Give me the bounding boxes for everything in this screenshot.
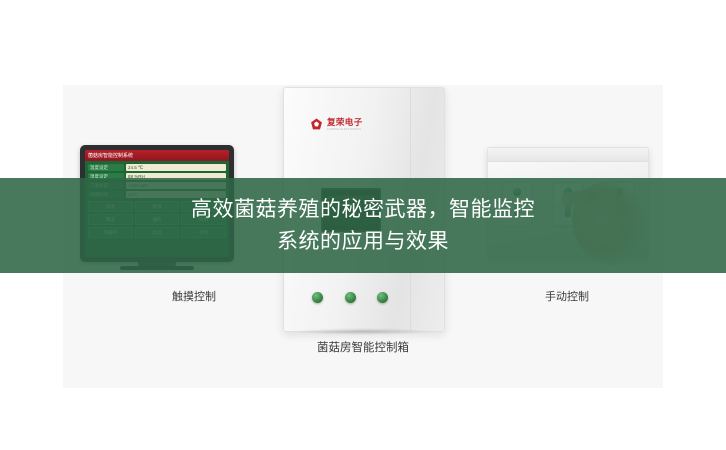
brand-name-cn: 复荣电子 (327, 118, 363, 127)
control-knob[interactable] (377, 292, 388, 303)
reading-value: 24.5 ℃ (126, 164, 226, 171)
headline-text: 高效菌菇养殖的秘密武器，智能监控 系统的应用与效果 (83, 194, 643, 258)
brand-logo: 复荣电子 FURONG ELECTRONICS (310, 118, 363, 131)
brand-name-en: FURONG ELECTRONICS (327, 129, 363, 132)
headline-line-2: 系统的应用与效果 (83, 226, 643, 258)
caption-manual-control: 手动控制 (487, 290, 647, 304)
reading-label: 温度设定 (88, 164, 124, 171)
control-box-knob-row (312, 292, 388, 303)
brand-text: 复荣电子 FURONG ELECTRONICS (327, 118, 363, 131)
touch-screen-titlebar: 菌菇房智能控制系统 (85, 150, 229, 161)
reading-row: 温度设定 24.5 ℃ (88, 164, 226, 171)
control-box-shadow (293, 328, 433, 335)
caption-control-box: 菌菇房智能控制箱 (283, 341, 443, 355)
manual-panel-top-strip (488, 148, 648, 162)
control-knob[interactable] (345, 292, 356, 303)
screenshot-root: 菌菇房智能控制系统 温度设定 24.5 ℃ 湿度设定 88 %RH 二氧化碳 (0, 0, 726, 450)
headline-banner: 高效菌菇养殖的秘密武器，智能监控 系统的应用与效果 (0, 178, 726, 273)
caption-touch-control: 触摸控制 (119, 290, 269, 304)
touch-screen-title: 菌菇房智能控制系统 (88, 153, 133, 159)
brand-mark-icon (310, 118, 323, 131)
headline-line-1: 高效菌菇养殖的秘密武器，智能监控 (83, 194, 643, 226)
control-knob[interactable] (312, 292, 323, 303)
